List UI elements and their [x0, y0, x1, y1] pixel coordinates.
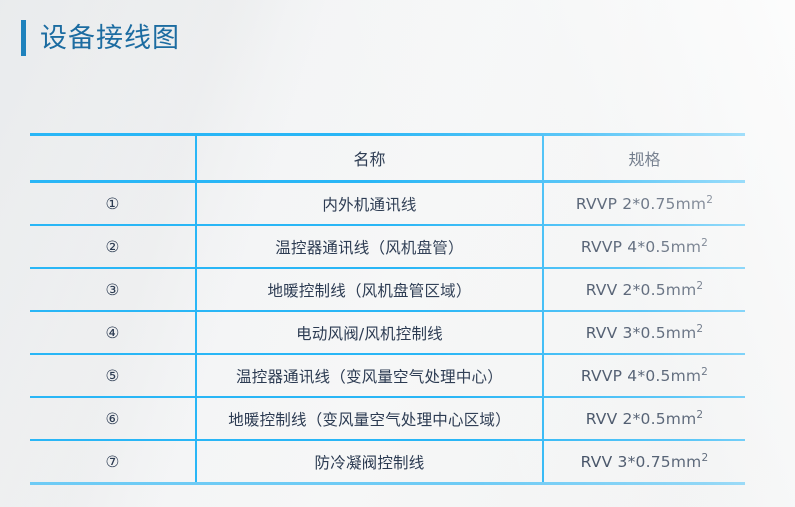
column-header-index — [30, 135, 196, 182]
row-name-cell: 温控器通讯线（风机盘管） — [196, 225, 543, 268]
row-spec-cell: RVVP 4*0.5mm2 — [543, 354, 745, 397]
title-accent-bar — [21, 20, 26, 56]
row-spec-superscript: 2 — [701, 451, 708, 463]
row-spec-cell: RVVP 4*0.5mm2 — [543, 225, 745, 268]
row-index-cell: ④ — [30, 311, 196, 354]
table-row: ⑦防冷凝阀控制线RVV 3*0.75mm2 — [30, 440, 745, 484]
row-spec-superscript: 2 — [701, 365, 708, 377]
row-name-cell: 地暖控制线（风机盘管区域） — [196, 268, 543, 311]
table-row: ⑥地暖控制线（变风量空气处理中心区域）RVV 2*0.5mm2 — [30, 397, 745, 440]
row-spec-superscript: 2 — [701, 236, 708, 248]
table-body: ①内外机通讯线RVVP 2*0.75mm2②温控器通讯线（风机盘管）RVVP 4… — [30, 182, 745, 484]
column-header-spec: 规格 — [543, 135, 745, 182]
table-header-row: 名称 规格 — [30, 135, 745, 182]
row-spec-cell: RVVP 2*0.75mm2 — [543, 182, 745, 226]
wiring-table-container: 名称 规格 ①内外机通讯线RVVP 2*0.75mm2②温控器通讯线（风机盘管）… — [30, 133, 745, 485]
table-row: ④电动风阀/风机控制线RVV 3*0.5mm2 — [30, 311, 745, 354]
row-index-cell: ② — [30, 225, 196, 268]
table-header: 名称 规格 — [30, 135, 745, 182]
row-spec-base: RVVP 4*0.5mm — [581, 238, 701, 256]
row-name-cell: 电动风阀/风机控制线 — [196, 311, 543, 354]
row-index-cell: ⑦ — [30, 440, 196, 484]
row-name-cell: 防冷凝阀控制线 — [196, 440, 543, 484]
row-name-cell: 内外机通讯线 — [196, 182, 543, 226]
table-row: ⑤温控器通讯线（变风量空气处理中心）RVVP 4*0.5mm2 — [30, 354, 745, 397]
row-spec-base: RVVP 4*0.5mm — [581, 367, 701, 385]
row-name-cell: 温控器通讯线（变风量空气处理中心） — [196, 354, 543, 397]
table-row: ①内外机通讯线RVVP 2*0.75mm2 — [30, 182, 745, 226]
row-spec-cell: RVV 2*0.5mm2 — [543, 268, 745, 311]
row-spec-base: RVVP 2*0.75mm — [576, 195, 706, 213]
column-header-name: 名称 — [196, 135, 543, 182]
row-spec-base: RVV 3*0.5mm — [586, 324, 697, 342]
row-index-cell: ⑥ — [30, 397, 196, 440]
page-title: 设备接线图 — [40, 25, 180, 52]
row-index-cell: ① — [30, 182, 196, 226]
row-spec-superscript: 2 — [696, 408, 703, 420]
row-spec-cell: RVV 3*0.5mm2 — [543, 311, 745, 354]
row-spec-cell: RVV 2*0.5mm2 — [543, 397, 745, 440]
row-spec-superscript: 2 — [696, 279, 703, 291]
row-index-cell: ⑤ — [30, 354, 196, 397]
page-background: 设备接线图 名称 规格 ①内外机通讯线RVVP 2*0.75mm2②温控器通讯线… — [0, 0, 795, 507]
row-spec-base: RVV 3*0.75mm — [581, 453, 702, 471]
row-spec-base: RVV 2*0.5mm — [586, 410, 697, 428]
row-index-cell: ③ — [30, 268, 196, 311]
wiring-table: 名称 规格 ①内外机通讯线RVVP 2*0.75mm2②温控器通讯线（风机盘管）… — [30, 133, 745, 485]
row-spec-cell: RVV 3*0.75mm2 — [543, 440, 745, 484]
table-row: ②温控器通讯线（风机盘管）RVVP 4*0.5mm2 — [30, 225, 745, 268]
row-spec-superscript: 2 — [696, 322, 703, 334]
table-row: ③地暖控制线（风机盘管区域）RVV 2*0.5mm2 — [30, 268, 745, 311]
page-title-block: 设备接线图 — [21, 20, 180, 56]
row-spec-superscript: 2 — [706, 193, 713, 205]
row-spec-base: RVV 2*0.5mm — [586, 281, 697, 299]
row-name-cell: 地暖控制线（变风量空气处理中心区域） — [196, 397, 543, 440]
